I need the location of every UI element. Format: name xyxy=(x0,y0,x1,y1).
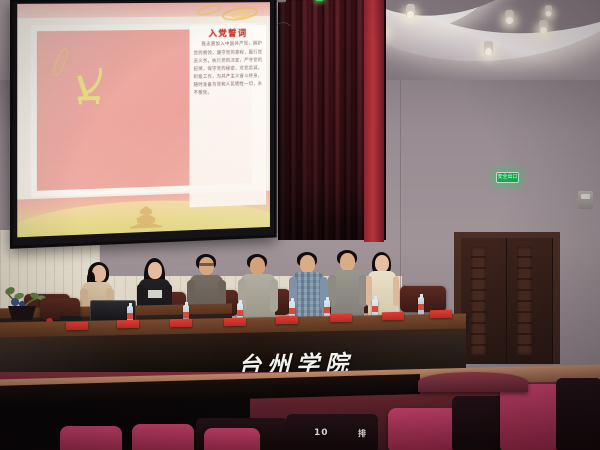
arm-right xyxy=(270,279,278,312)
red-name-card[interactable] xyxy=(430,310,452,318)
ceiling-spotlight-icon xyxy=(406,4,415,17)
curtain-valance-edge xyxy=(364,0,384,242)
red-name-card[interactable] xyxy=(66,322,88,330)
audience-seat[interactable] xyxy=(388,408,458,450)
red-name-card[interactable] xyxy=(276,316,298,324)
door-panel xyxy=(471,247,486,355)
audience-seat[interactable] xyxy=(60,426,122,450)
presentation-slide: 入党誓词 我志愿加入中国共产党，拥护党的纲领，遵守党的章程，履行党员义务，执行党… xyxy=(17,2,270,237)
door-leaf-left[interactable] xyxy=(461,238,507,364)
oath-text-panel: 入党誓词 我志愿加入中国共产党，拥护党的纲领，遵守党的章程，履行党员义务，执行党… xyxy=(190,25,266,208)
ceiling-spotlight-icon xyxy=(545,5,552,15)
head xyxy=(300,255,315,273)
row-number-label: 10 xyxy=(314,428,329,438)
seat-back-panel[interactable] xyxy=(556,378,600,450)
oath-title: 入党誓词 xyxy=(194,30,263,39)
red-name-card[interactable] xyxy=(330,314,352,322)
oath-body-text: 我志愿加入中国共产党，拥护党的纲领，遵守党的章程，履行党员义务，执行党的决定，严… xyxy=(194,41,263,98)
red-name-card[interactable] xyxy=(224,318,246,326)
ceiling-spotlight-icon xyxy=(484,41,493,54)
head xyxy=(148,262,162,279)
hammer-and-sickle-emblem-icon xyxy=(72,65,112,110)
status-led-icon xyxy=(316,0,323,1)
screen-surface: 入党誓词 我志愿加入中国共产党，拥护党的纲领，遵守党的章程，履行党员义务，执行党… xyxy=(17,2,270,237)
head xyxy=(375,255,389,272)
wall-switch-plate xyxy=(578,191,593,209)
red-name-card[interactable] xyxy=(170,319,192,327)
head xyxy=(250,257,265,275)
auditorium-photo: 安全出口 xyxy=(0,0,600,450)
door-leaf-right[interactable] xyxy=(507,238,553,364)
water-bottle[interactable] xyxy=(418,297,424,315)
door-panel xyxy=(517,247,532,355)
red-name-card[interactable] xyxy=(117,320,139,328)
double-door[interactable] xyxy=(461,238,553,364)
emergency-exit-sign: 安全出口 xyxy=(496,172,519,183)
decorative-swirl xyxy=(50,46,71,78)
projection-screen: 入党誓词 我志愿加入中国共产党，拥护党的纲领，遵守党的章程，履行党员义务，执行党… xyxy=(10,0,277,249)
audience-seat[interactable] xyxy=(132,424,194,450)
red-name-card[interactable] xyxy=(382,312,404,320)
head xyxy=(340,253,355,271)
arm-right xyxy=(393,276,399,306)
shirt-graphic xyxy=(148,290,162,298)
ceiling-spotlight-icon xyxy=(505,10,514,23)
pagoda-silhouette-icon xyxy=(127,206,165,229)
glasses-icon xyxy=(199,263,214,266)
ceiling-spotlight-icon xyxy=(539,20,548,33)
head xyxy=(199,257,214,275)
seat-row-edge xyxy=(418,372,528,392)
foreground-shadow xyxy=(0,404,60,450)
audience-seat[interactable] xyxy=(204,428,260,450)
row-suffix-label: 排 xyxy=(358,428,367,439)
